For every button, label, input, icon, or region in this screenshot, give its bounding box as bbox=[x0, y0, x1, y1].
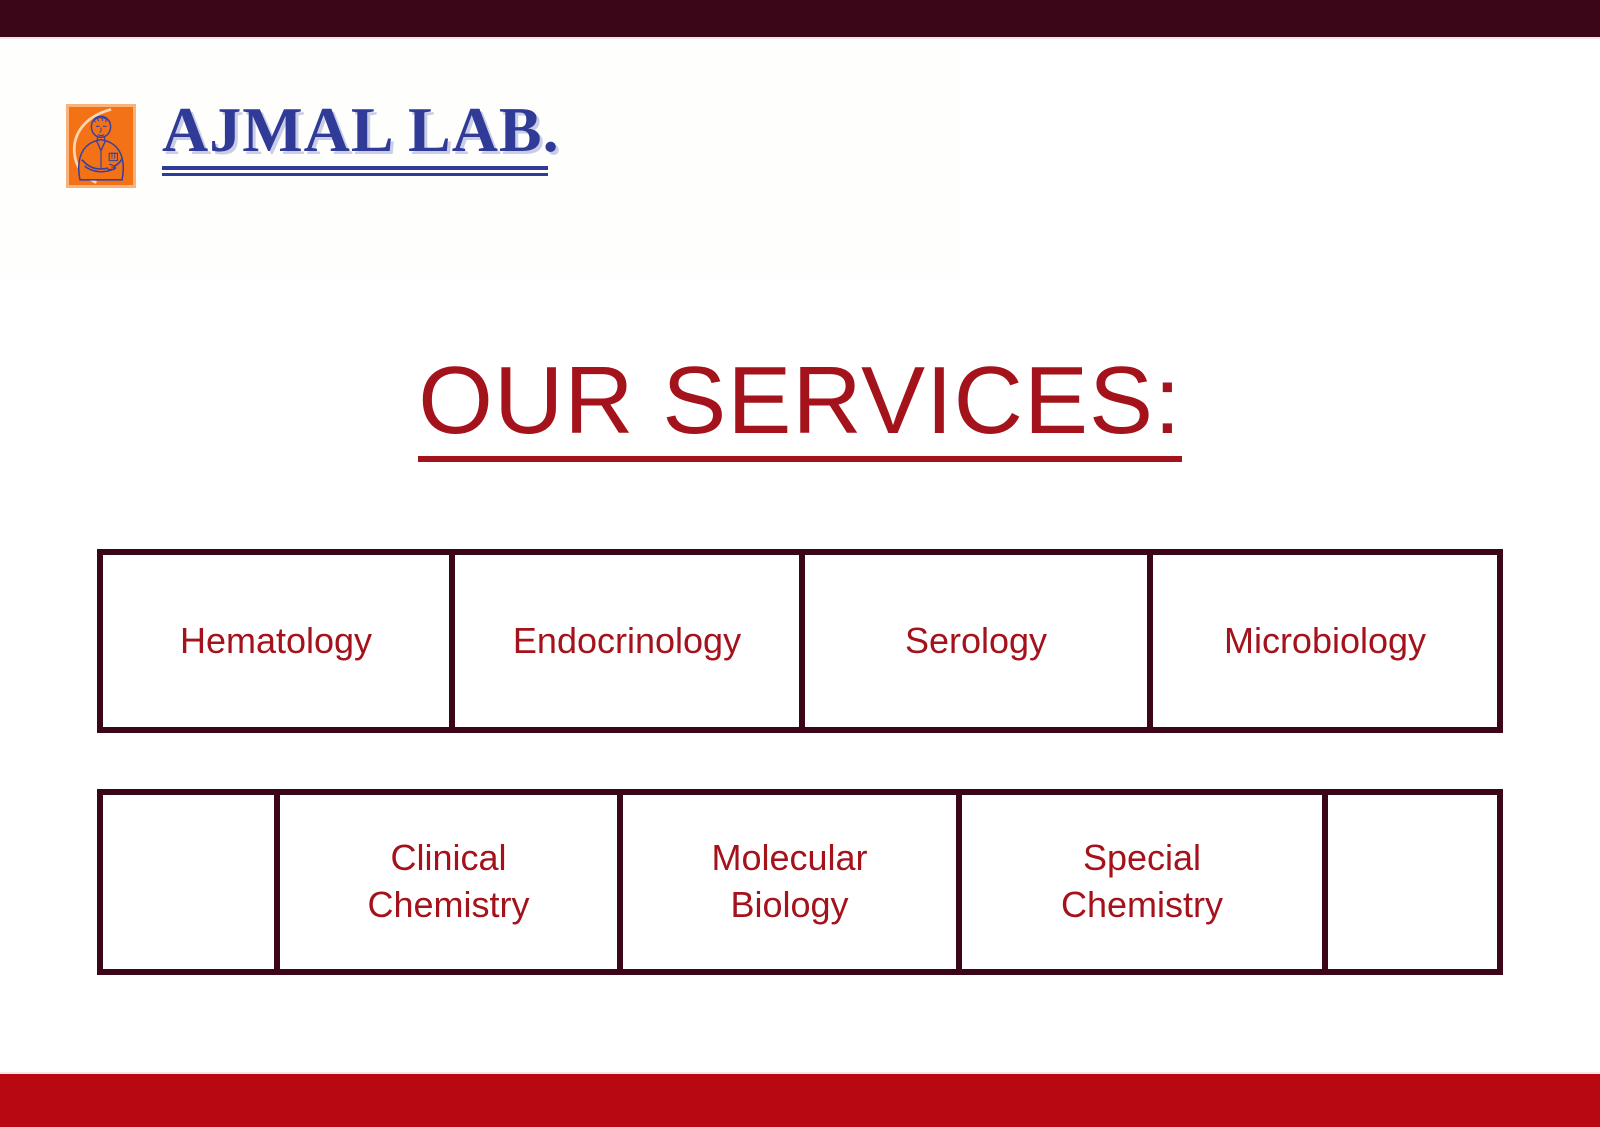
page-title-underline bbox=[418, 456, 1181, 462]
service-cell[interactable]: Special Chemistry bbox=[962, 795, 1328, 969]
service-label: Molecular Biology bbox=[711, 835, 867, 929]
brand-wordmark-rules bbox=[162, 166, 548, 176]
service-label: Serology bbox=[905, 618, 1047, 665]
services-table-row-2: Clinical Chemistry Molecular Biology Spe… bbox=[97, 789, 1503, 975]
top-bar-hairline bbox=[0, 37, 1600, 39]
brand-logo: AJMAL LAB. bbox=[66, 104, 560, 188]
lab-scientist-icon bbox=[66, 104, 136, 188]
service-label: Endocrinology bbox=[513, 618, 741, 665]
service-cell[interactable]: Endocrinology bbox=[455, 555, 805, 727]
brand-wordmark-text: AJMAL LAB. bbox=[162, 98, 560, 162]
service-cell[interactable]: Molecular Biology bbox=[623, 795, 962, 969]
service-label: Microbiology bbox=[1224, 618, 1426, 665]
brand-wordmark: AJMAL LAB. bbox=[162, 98, 560, 176]
service-cell[interactable]: Clinical Chemistry bbox=[280, 795, 623, 969]
service-cell[interactable]: Microbiology bbox=[1153, 555, 1497, 727]
page-title: OUR SERVICES: bbox=[0, 352, 1600, 462]
bottom-decorative-bar bbox=[0, 1074, 1600, 1127]
page-title-text: OUR SERVICES: bbox=[418, 352, 1181, 450]
service-label: Special Chemistry bbox=[1061, 835, 1223, 929]
service-label: Clinical Chemistry bbox=[367, 835, 529, 929]
service-cell-empty-right[interactable] bbox=[1328, 795, 1497, 969]
service-label: Hematology bbox=[180, 618, 372, 665]
service-cell-empty-left[interactable] bbox=[103, 795, 280, 969]
top-decorative-bar bbox=[0, 0, 1600, 37]
slide-canvas: AJMAL LAB. OUR SERVICES: Hematology Endo… bbox=[0, 0, 1600, 1127]
services-table-row-1: Hematology Endocrinology Serology Microb… bbox=[97, 549, 1503, 733]
service-cell[interactable]: Hematology bbox=[103, 555, 455, 727]
service-cell[interactable]: Serology bbox=[805, 555, 1153, 727]
